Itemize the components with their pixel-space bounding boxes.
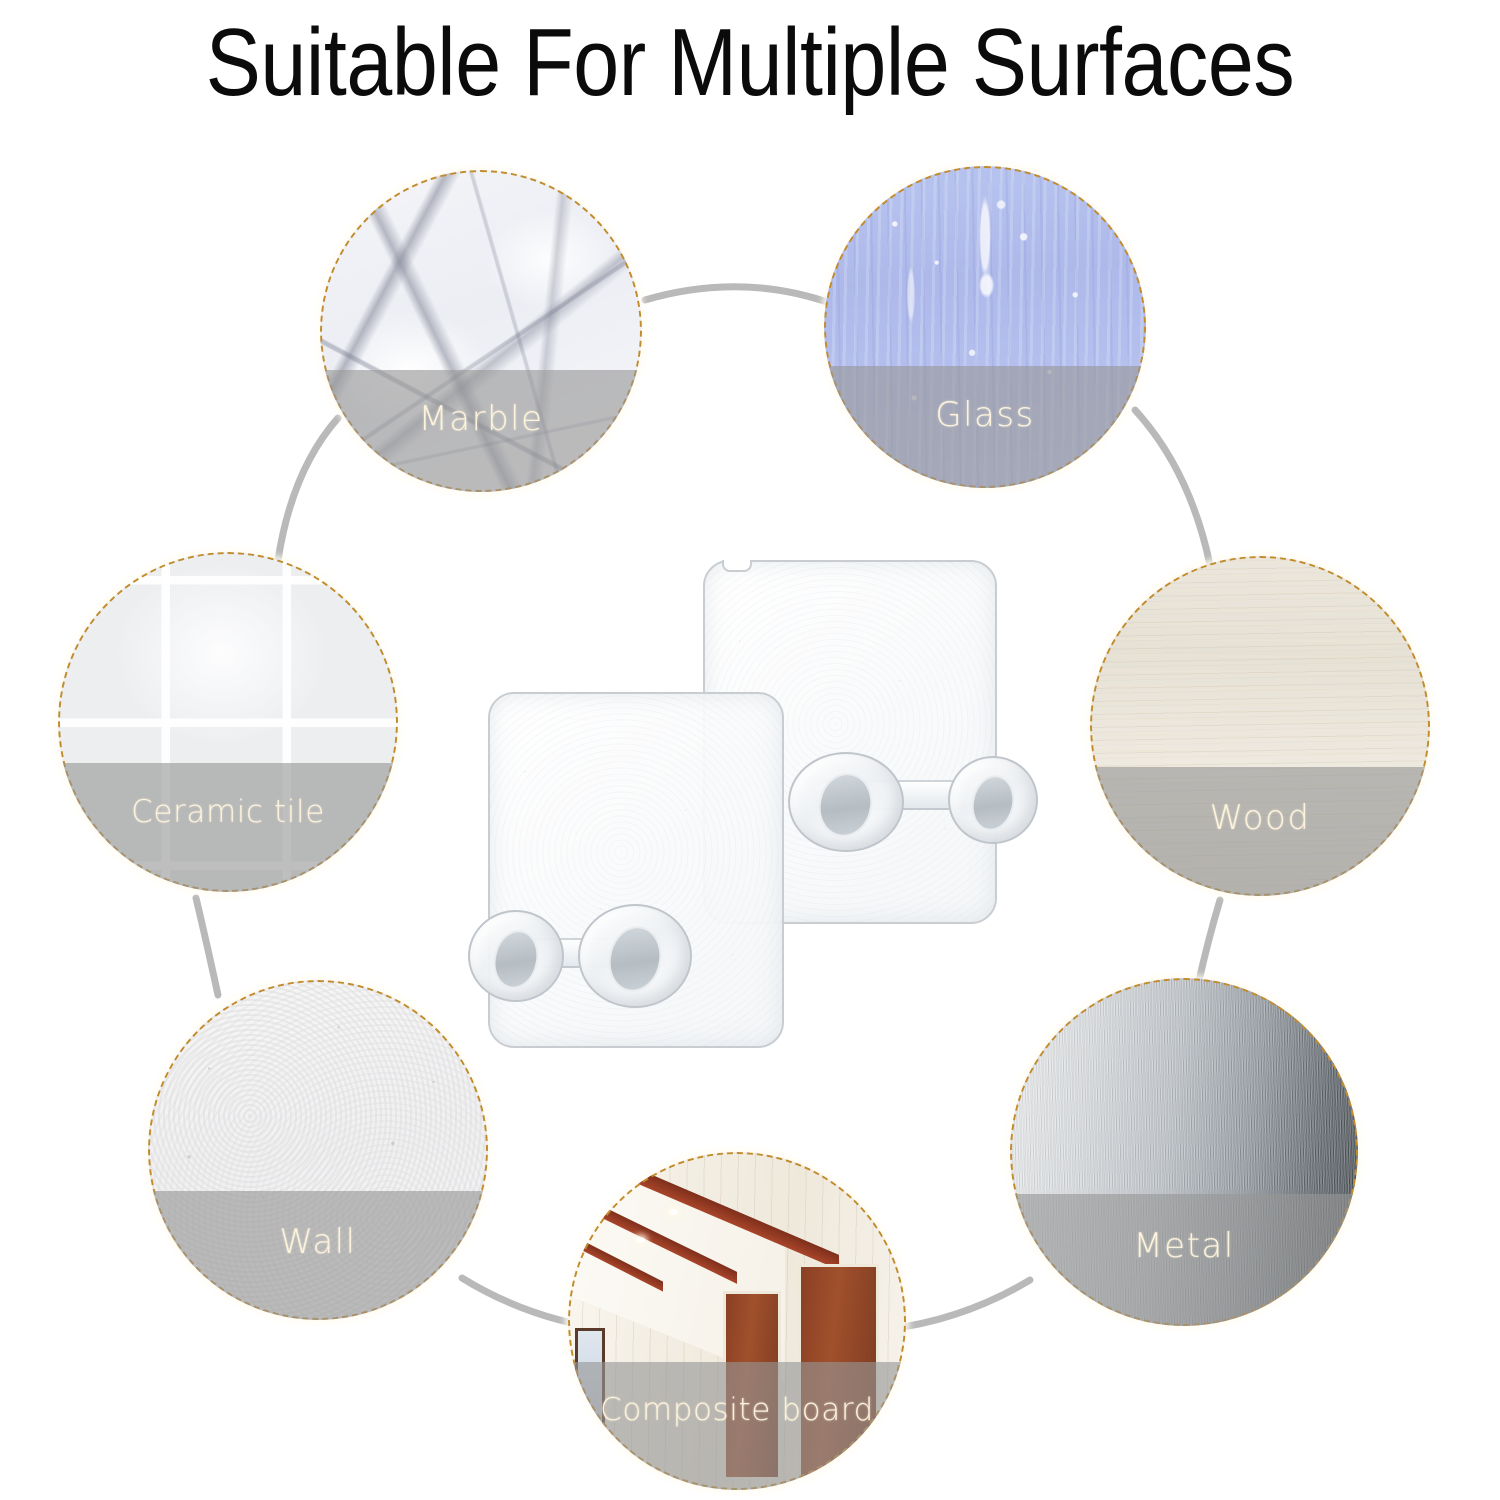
label-band-metal: Metal — [1010, 1194, 1358, 1326]
label-band-wood: Wood — [1090, 767, 1430, 896]
arc-wood-metal — [1198, 900, 1220, 985]
surface-label-marble: Marble — [418, 402, 543, 436]
surface-label-composite-board: Composite board — [600, 1395, 874, 1426]
plate-notch — [722, 560, 752, 572]
surface-circle-metal[interactable]: Metal — [1010, 978, 1358, 1326]
ceiling-light — [636, 1237, 645, 1243]
surface-label-wood: Wood — [1210, 801, 1311, 835]
surface-label-glass: Glass — [935, 398, 1035, 432]
hook-opening — [813, 768, 878, 841]
hook-knob-front-left — [468, 910, 564, 1002]
label-band-glass: Glass — [824, 366, 1146, 488]
hook-opening — [602, 921, 667, 996]
surface-label-wall: Wall — [279, 1225, 356, 1259]
surface-label-ceramic-tile: Ceramic tile — [131, 797, 325, 828]
surface-circle-wall[interactable]: Wall — [148, 980, 488, 1320]
surface-circle-ceramic-tile[interactable]: Ceramic tile — [58, 552, 398, 892]
infographic-canvas: Suitable For Multiple Surfaces Marble — [0, 0, 1500, 1500]
label-band-wall: Wall — [148, 1191, 488, 1320]
label-band-ceramic-tile: Ceramic tile — [58, 763, 398, 892]
product-adhesive-hooks — [460, 540, 1030, 1070]
surface-circle-marble[interactable]: Marble — [320, 170, 642, 492]
hook-opening — [967, 771, 1020, 835]
surface-circle-glass[interactable]: Glass — [824, 166, 1146, 488]
arc-marble-glass — [645, 287, 830, 303]
surface-circle-composite-board[interactable]: Composite board — [568, 1152, 906, 1490]
surface-label-metal: Metal — [1133, 1229, 1234, 1263]
hook-knob-back-right — [948, 756, 1038, 844]
surface-circle-wood[interactable]: Wood — [1090, 556, 1430, 896]
arc-glass-wood — [1135, 410, 1210, 565]
label-band-marble: Marble — [320, 370, 642, 492]
label-band-composite-board: Composite board — [568, 1362, 906, 1490]
hook-knob-front-right — [578, 904, 692, 1008]
hook-knob-back-left — [788, 752, 904, 852]
arc-wall-ceramic — [196, 898, 218, 995]
hook-opening — [488, 926, 544, 993]
